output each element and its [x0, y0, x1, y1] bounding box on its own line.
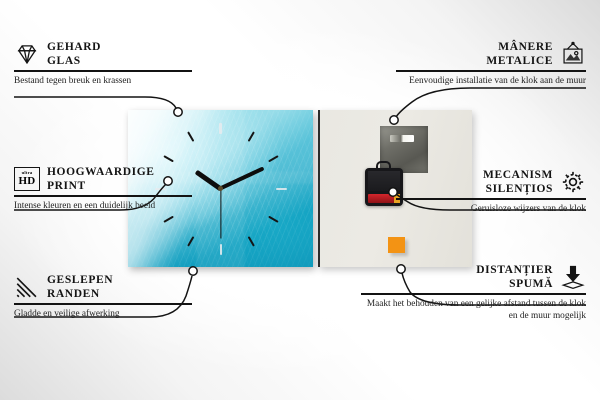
clock-tick-mark — [276, 187, 287, 189]
feature-description: Eenvoudige installatie van de klok aan d… — [396, 75, 586, 88]
feature-title: HOOGWAARDIGE PRINT — [47, 165, 155, 193]
feature-manere-metalice: MÂNERE METALICE Eenvoudige installatie v… — [396, 40, 586, 87]
feature-divider — [396, 198, 586, 200]
feature-title: GEHARD GLAS — [47, 40, 101, 68]
feature-gehard-glas: GEHARD GLAS Bestand tegen breuk en krass… — [14, 40, 192, 87]
clock-tick-mark — [219, 123, 221, 134]
bevelled-edges-icon — [14, 274, 40, 300]
feature-divider — [361, 293, 586, 295]
feature-hoogwaardige-print: ultra HD HOOGWAARDIGE PRINT Intense kleu… — [14, 165, 192, 212]
feature-header: DISTANȚIER SPUMĂ — [361, 263, 586, 291]
clock-center-cap — [218, 186, 223, 191]
feature-mecanism-silentios: MECANISM SILENȚIOS Geruisloze wijzers va… — [396, 168, 586, 215]
hanging-picture-icon — [560, 41, 586, 67]
hanger-slot — [390, 135, 414, 142]
feature-title: MECANISM SILENȚIOS — [483, 168, 553, 196]
feature-description: Bestand tegen breuk en krassen — [14, 75, 192, 88]
feature-divider — [14, 303, 192, 305]
feature-distantier-spuma: DISTANȚIER SPUMĂ Maakt het behouden van … — [361, 263, 586, 323]
gear-icon — [560, 169, 586, 195]
feature-description: Intense kleuren en een duidelijk beeld — [14, 200, 192, 213]
clock-second-hand — [220, 188, 221, 238]
diamond-icon — [14, 41, 40, 67]
feature-header: ultra HD HOOGWAARDIGE PRINT — [14, 165, 192, 193]
feature-title: MÂNERE METALICE — [486, 40, 553, 68]
feature-title: GESLEPEN RANDEN — [47, 273, 113, 301]
feature-header: MECANISM SILENȚIOS — [396, 168, 586, 196]
feature-geslepen-randen: GESLEPEN RANDEN Gladde en veilige afwerk… — [14, 273, 192, 320]
feature-header: MÂNERE METALICE — [396, 40, 586, 68]
feature-divider — [14, 195, 192, 197]
feature-description: Gladde en veilige afwerking — [14, 308, 192, 321]
ultra-hd-icon: ultra HD — [14, 167, 40, 191]
feature-header: GEHARD GLAS — [14, 40, 192, 68]
feature-description: Maakt het behouden van een gelijke afsta… — [361, 298, 586, 323]
spacer-arrow-icon — [560, 264, 586, 290]
mechanism-hanging-loop — [376, 161, 391, 170]
feature-divider — [396, 70, 586, 72]
ultra-hd-icon-main-text: HD — [18, 176, 35, 187]
feature-title: DISTANȚIER SPUMĂ — [476, 263, 553, 291]
feature-description: Geruisloze wijzers van de klok — [396, 203, 586, 216]
clock-tick-mark — [219, 244, 221, 255]
feature-header: GESLEPEN RANDEN — [14, 273, 192, 301]
foam-spacer — [388, 237, 405, 253]
feature-divider — [14, 70, 192, 72]
